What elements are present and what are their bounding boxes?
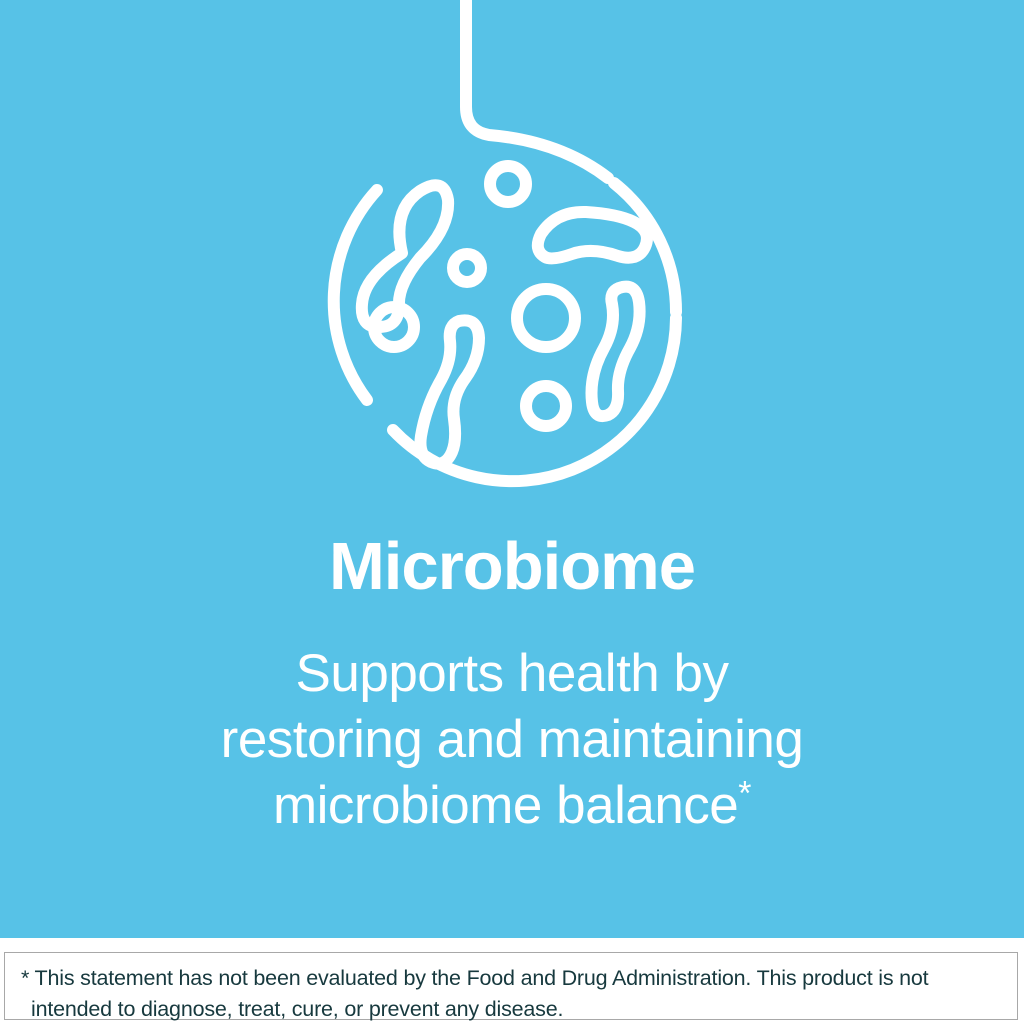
subtitle-line-3: microbiome balance* (0, 773, 1024, 839)
coccus-top (490, 166, 526, 202)
dish-stem-path (466, 0, 608, 178)
disclaimer-line-1: * This statement has not been evaluated … (21, 963, 1001, 994)
bacillus-bottom-center (420, 320, 479, 463)
disclaimer-text: * This statement has not been evaluated … (21, 963, 1001, 1024)
subtitle: Supports health by restoring and maintai… (0, 641, 1024, 839)
subtitle-line-3-text: microbiome balance (273, 776, 738, 835)
subtitle-line-2: restoring and maintaining (0, 707, 1024, 773)
microbiome-benefit-card: Microbiome Supports health by restoring … (0, 0, 1024, 1024)
disclaimer-box: * This statement has not been evaluated … (4, 952, 1018, 1020)
page-title: Microbiome (0, 527, 1024, 607)
coccus-center (517, 289, 575, 347)
subtitle-line-1: Supports health by (0, 641, 1024, 707)
microbiome-icon (0, 0, 1024, 500)
disclaimer-line-2: intended to diagnose, treat, cure, or pr… (21, 994, 1001, 1024)
bacillus-upper-right (538, 212, 647, 258)
hero-panel: Microbiome Supports health by restoring … (0, 0, 1024, 938)
coccus-center-left (453, 254, 481, 282)
bacillus-right (592, 287, 640, 416)
subtitle-asterisk: * (738, 774, 751, 812)
coccus-bottom (526, 386, 566, 426)
dish-rim-arc-left (334, 190, 377, 400)
microbiome-icon-graphic (0, 0, 1024, 500)
